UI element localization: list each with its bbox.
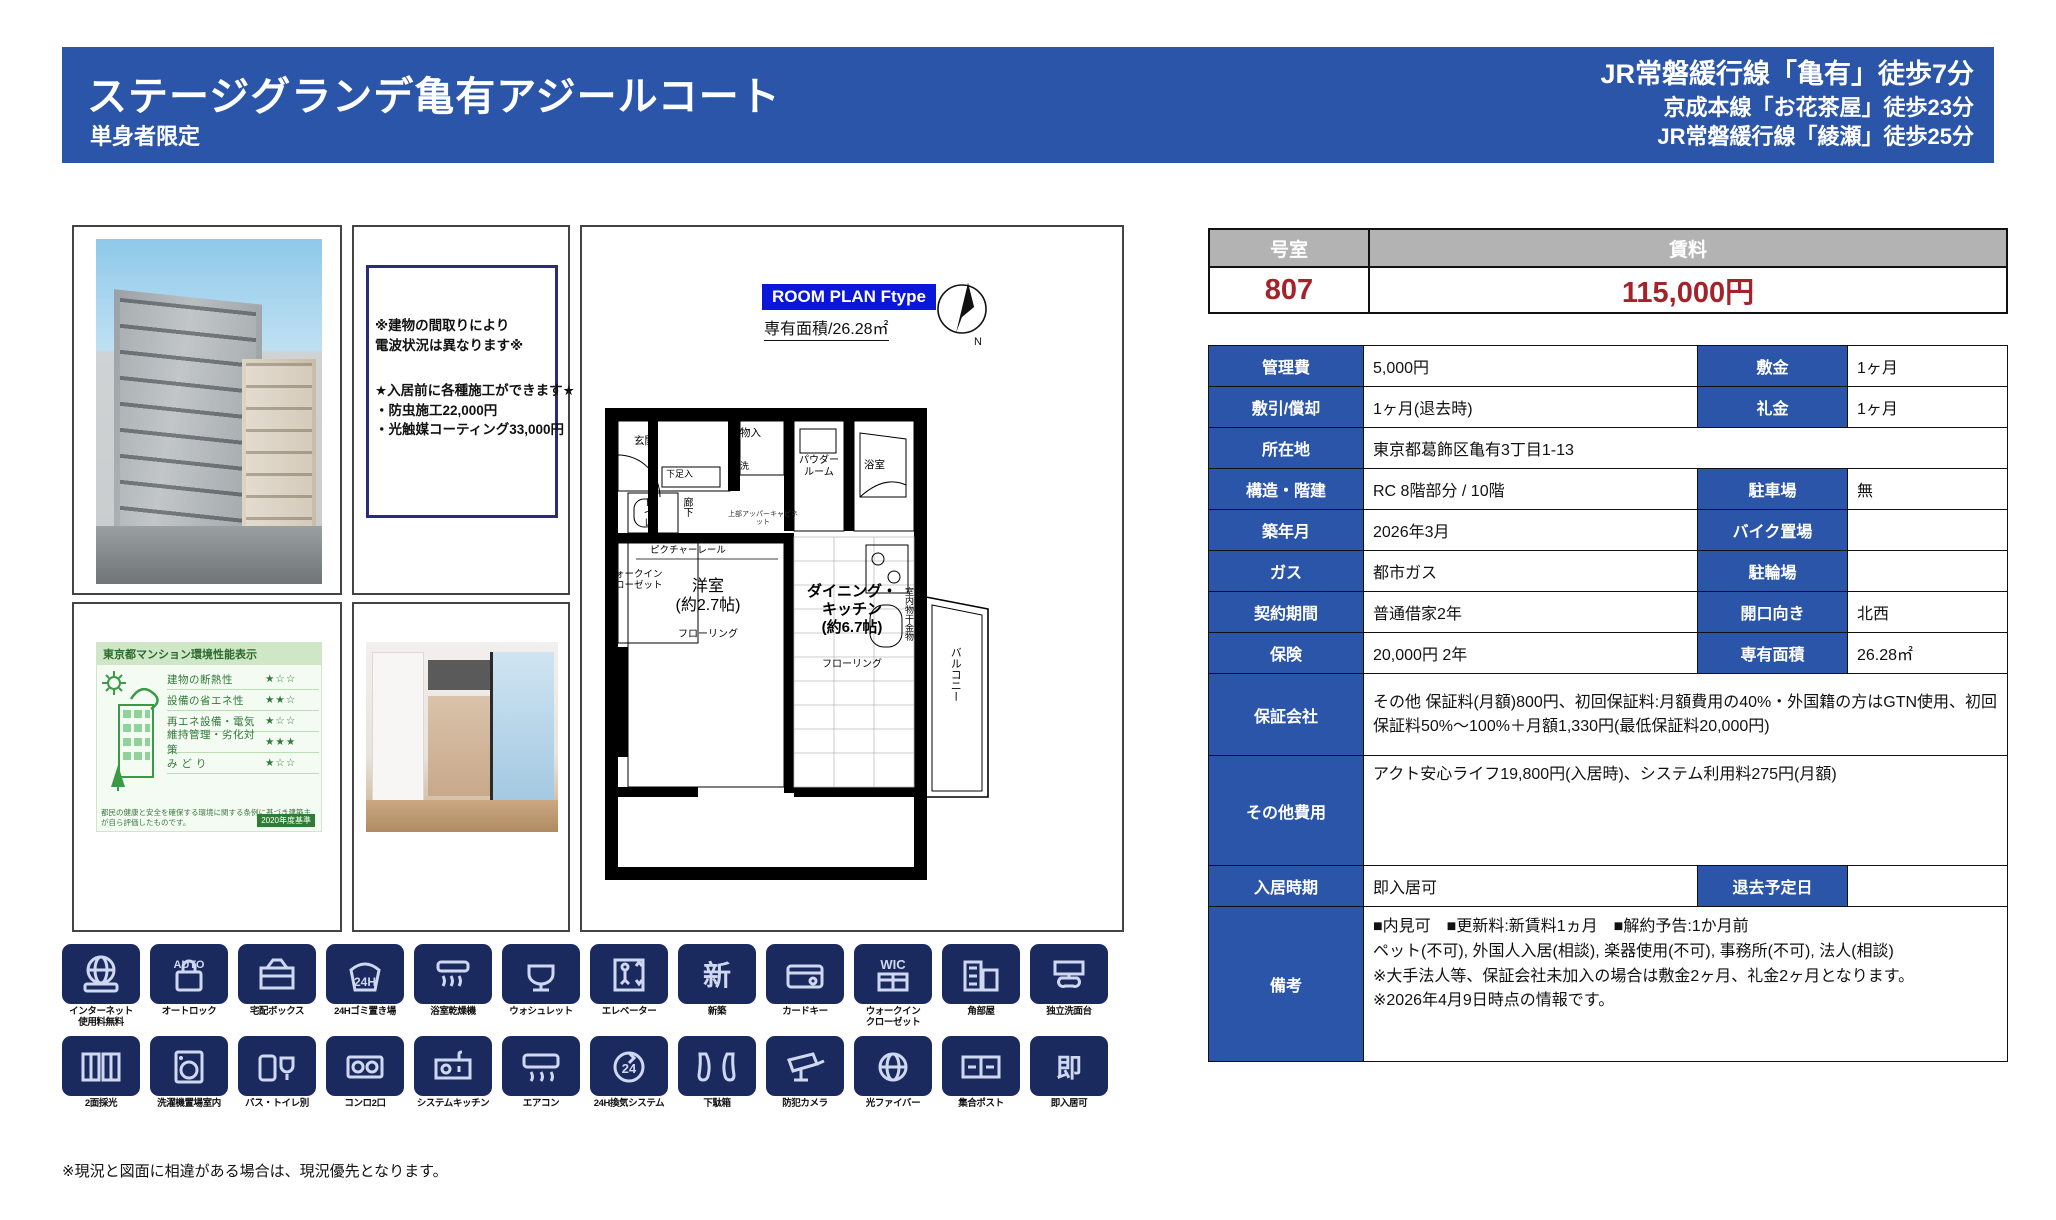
property-detail-table: 管理費 5,000円 敷金 1ヶ月 敷引/償却 1ヶ月(退去時) 礼金 1ヶ月 … bbox=[1208, 345, 2008, 1062]
row-key-structure: 構造・階建 bbox=[1209, 469, 1364, 510]
eco-tree-icon bbox=[101, 669, 167, 799]
row-value-bicycle-parking bbox=[1848, 551, 2008, 592]
facility-icon-label: ウォークイン クローゼット bbox=[854, 1007, 932, 1028]
eco-label-year-badge: 2020年度基準 bbox=[257, 814, 315, 827]
fp-label-powder-room: パウダー ルーム bbox=[794, 455, 844, 479]
eco-row-name: 設備の省エネ性 bbox=[167, 693, 265, 708]
facility-icon-cell: 24H24Hゴミ置き場 bbox=[326, 944, 404, 1028]
eco-row: 維持管理・劣化対策 ★★★ bbox=[167, 732, 319, 753]
page-subtitle: 単身者限定 bbox=[90, 119, 200, 151]
rent-summary-table: 号室 賃料 807 115,000円 bbox=[1208, 228, 2008, 314]
fp-label-flooring-1: フローリング bbox=[664, 629, 752, 641]
fp-label-upper-cabinet: 上部アッパーキャビネット bbox=[728, 511, 798, 528]
entry-door bbox=[372, 652, 424, 802]
facility-icon-label: 光ファイバー bbox=[854, 1099, 932, 1110]
facility-icon-label: 防犯カメラ bbox=[766, 1099, 844, 1110]
eco-row: み ど り ★☆☆ bbox=[167, 753, 319, 774]
floorplan-panel: ROOM PLAN Ftype 専有面積/26.28㎡ N bbox=[580, 225, 1124, 932]
page-header: ステージグランデ亀有アジールコート 単身者限定 JR常磐緩行線「亀有」徒歩7分 … bbox=[62, 47, 1994, 163]
table-row: 敷引/償却 1ヶ月(退去時) 礼金 1ヶ月 bbox=[1209, 387, 2008, 428]
fp-label-dining-kitchen: ダイニング・ キッチン (約6.7帖) bbox=[800, 583, 904, 637]
24h-ventilation-icon: 24 bbox=[590, 1036, 668, 1096]
fp-label-monoire: 物入 bbox=[740, 427, 761, 440]
internet-free-icon bbox=[62, 944, 140, 1004]
corner-room-icon bbox=[942, 944, 1020, 1004]
facility-icon-label: 集合ポスト bbox=[942, 1099, 1020, 1110]
eco-label-panel: 東京都マンション環境性能表示 bbox=[72, 602, 342, 932]
table-row: 保証会社 その他 保証料(月額)800円、初回保証料:月額費用の40%・外国籍の… bbox=[1209, 674, 2008, 756]
facility-icon-cell: 光ファイバー bbox=[854, 1036, 932, 1110]
page-title: ステージグランデ亀有アジールコート bbox=[87, 64, 781, 122]
notice-inner-box: ※建物の間取りにより 電波状況は異なります※ ★入居前に各種施工ができます★ ・… bbox=[366, 265, 558, 518]
table-row: 備考 ■内見可 ■更新料:新賃料1ヵ月 ■解約予告:1か月前 ペット(不可), … bbox=[1209, 907, 2008, 1062]
facility-icon-label: 2面採光 bbox=[62, 1099, 140, 1110]
eco-row-stars: ★☆☆ bbox=[265, 673, 319, 685]
row-key-bike-parking: バイク置場 bbox=[1698, 510, 1848, 551]
table-row: ガス 都市ガス 駐輪場 bbox=[1209, 551, 2008, 592]
eco-row-stars: ★☆☆ bbox=[265, 757, 319, 769]
bath-dryer-icon bbox=[414, 944, 492, 1004]
range-hood bbox=[428, 660, 494, 690]
row-value-floor-area: 26.28㎡ bbox=[1848, 633, 2008, 674]
facility-icon-label: インターネット 使用料無料 bbox=[62, 1007, 140, 1028]
row-key-remarks: 備考 bbox=[1209, 907, 1364, 1062]
svg-text:24: 24 bbox=[622, 1061, 637, 1076]
row-key-facing: 開口向き bbox=[1698, 592, 1848, 633]
rent-header-rent: 賃料 bbox=[1369, 229, 2007, 267]
facility-icon-label: 24H換気システム bbox=[590, 1099, 668, 1110]
facility-icon-grid: インターネット 使用料無料AUTOオートロック宅配ボックス24H24Hゴミ置き場… bbox=[62, 944, 1122, 1174]
shoe-box-icon bbox=[678, 1036, 756, 1096]
facility-icon-label: 宅配ボックス bbox=[238, 1007, 316, 1018]
row-value-movein-date: 即入居可 bbox=[1364, 866, 1698, 907]
row-key-address: 所在地 bbox=[1209, 428, 1364, 469]
row-value-gas: 都市ガス bbox=[1364, 551, 1698, 592]
table-row: 保険 20,000円 2年 専有面積 26.28㎡ bbox=[1209, 633, 2008, 674]
washlet-icon bbox=[502, 944, 580, 1004]
interior-photo-panel bbox=[352, 602, 570, 932]
row-value-address: 東京都葛飾区亀有3丁目1-13 bbox=[1364, 428, 2008, 469]
row-key-deposit: 敷金 bbox=[1698, 346, 1848, 387]
facility-icon-cell: 浴室乾燥機 bbox=[414, 944, 492, 1028]
station-access-line-1: JR常磐緩行線「亀有」徒歩7分 bbox=[1600, 57, 1974, 93]
facility-icon-row-2: 2面採光洗濯機置場室内バス・トイレ別コンロ2口システムキッチンエアコン2424H… bbox=[62, 1036, 1122, 1110]
card-key-icon bbox=[766, 944, 844, 1004]
station-access: JR常磐緩行線「亀有」徒歩7分 京成本線「お花茶屋」徒歩23分 JR常磐緩行線「… bbox=[1600, 57, 1974, 151]
notice-line-4: ・防虫施工22,000円 bbox=[369, 401, 555, 421]
row-key-guarantor: 保証会社 bbox=[1209, 674, 1364, 756]
table-row: その他費用 アクト安心ライフ19,800円(入居時)、システム利用料275円(月… bbox=[1209, 756, 2008, 866]
svg-text:N: N bbox=[974, 336, 982, 347]
row-value-deposit: 1ヶ月 bbox=[1848, 346, 2008, 387]
station-access-line-2: 京成本線「お花茶屋」徒歩23分 bbox=[1600, 93, 1974, 122]
row-value-built-date: 2026年3月 bbox=[1364, 510, 1698, 551]
roomplan-badge: ROOM PLAN Ftype bbox=[762, 284, 936, 310]
floorplan-area-text: 専有面積/26.28㎡ bbox=[764, 315, 889, 341]
table-row: 築年月 2026年3月 バイク置場 bbox=[1209, 510, 2008, 551]
facility-icon-cell: 宅配ボックス bbox=[238, 944, 316, 1028]
independent-washstand-icon bbox=[1030, 944, 1108, 1004]
row-key-parking: 駐車場 bbox=[1698, 469, 1848, 510]
facility-icon-cell: カードキー bbox=[766, 944, 844, 1028]
row-key-floor-area: 専有面積 bbox=[1698, 633, 1848, 674]
row-value-structure: RC 8階部分 / 10階 bbox=[1364, 469, 1698, 510]
svg-text:新: 新 bbox=[703, 960, 731, 991]
row-value-remarks: ■内見可 ■更新料:新賃料1ヵ月 ■解約予告:1か月前 ペット(不可), 外国人… bbox=[1364, 907, 2008, 1062]
air-conditioner-icon bbox=[502, 1036, 580, 1096]
table-row: 入居時期 即入居可 退去予定日 bbox=[1209, 866, 2008, 907]
remarks-line-3: ※大手法人等、保証会社未加入の場合は敷金2ヶ月、礼金2ヶ月となります。 bbox=[1373, 965, 1998, 990]
facility-icon-cell: エアコン bbox=[502, 1036, 580, 1110]
eco-label-title: 東京都マンション環境性能表示 bbox=[97, 643, 321, 665]
notice-line-1: ※建物の間取りにより bbox=[369, 268, 555, 336]
row-key-management-fee: 管理費 bbox=[1209, 346, 1364, 387]
row-key-bicycle-parking: 駐輪場 bbox=[1698, 551, 1848, 592]
facility-icon-label: 浴室乾燥機 bbox=[414, 1007, 492, 1018]
optical-fiber-icon bbox=[854, 1036, 932, 1096]
facility-icon-label: 24Hゴミ置き場 bbox=[326, 1007, 404, 1018]
eco-row-stars: ★☆☆ bbox=[265, 715, 319, 727]
svg-text:WIC: WIC bbox=[880, 957, 906, 972]
row-key-contract-term: 契約期間 bbox=[1209, 592, 1364, 633]
facility-icon-label: 独立洗面台 bbox=[1030, 1007, 1108, 1018]
facility-icon-label: 即入居可 bbox=[1030, 1099, 1108, 1110]
table-row: 契約期間 普通借家2年 開口向き 北西 bbox=[1209, 592, 2008, 633]
facility-icon-cell: システムキッチン bbox=[414, 1036, 492, 1110]
remarks-line-2: ペット(不可), 外国人入居(相談), 楽器使用(不可), 事務所(不可), 法… bbox=[1373, 940, 1998, 965]
fp-label-toilet: トイレ bbox=[640, 497, 652, 527]
eco-row: 設備の省エネ性 ★★☆ bbox=[167, 690, 319, 711]
row-value-facing: 北西 bbox=[1848, 592, 2008, 633]
facility-icon-label: オートロック bbox=[150, 1007, 228, 1018]
facility-icon-label: 下駄箱 bbox=[678, 1099, 756, 1110]
facility-icon-label: ウォシュレット bbox=[502, 1007, 580, 1018]
remarks-line-1: ■内見可 ■更新料:新賃料1ヵ月 ■解約予告:1か月前 bbox=[1373, 915, 1998, 940]
fp-label-wic: ウォークイン クローゼット bbox=[596, 569, 672, 592]
facility-icon-cell: 下駄箱 bbox=[678, 1036, 756, 1110]
floor-surface bbox=[366, 800, 558, 832]
notice-line-5: ・光触媒コーティング33,000円 bbox=[369, 420, 555, 440]
washer-indoor-icon bbox=[150, 1036, 228, 1096]
eco-row: 建物の断熱性 ★☆☆ bbox=[167, 669, 319, 690]
disclaimer-text: ※現況と図面に相違がある場合は、現況優先となります。 bbox=[62, 1160, 448, 1181]
bath-toilet-separate-icon bbox=[238, 1036, 316, 1096]
security-camera-icon bbox=[766, 1036, 844, 1096]
street bbox=[96, 526, 322, 584]
two-side-lighting-icon bbox=[62, 1036, 140, 1096]
fp-label-shoebox: 下足入 bbox=[666, 469, 693, 480]
table-row: 所在地 東京都葛飾区亀有3丁目1-13 bbox=[1209, 428, 2008, 469]
auto-lock-icon: AUTO bbox=[150, 944, 228, 1004]
facility-icon-label: システムキッチン bbox=[414, 1099, 492, 1110]
row-value-bike-parking bbox=[1848, 510, 2008, 551]
fp-label-sen: 洗 bbox=[740, 461, 749, 472]
exterior-photo-panel bbox=[72, 225, 342, 595]
row-value-insurance: 20,000円 2年 bbox=[1364, 633, 1698, 674]
facility-icon-cell: WICウォークイン クローゼット bbox=[854, 944, 932, 1028]
tokyo-mansion-eco-label: 東京都マンション環境性能表示 bbox=[96, 642, 322, 832]
fp-label-western-room: 洋室 (約2.7帖) bbox=[664, 577, 752, 615]
facility-icon-cell: 洗濯機置場室内 bbox=[150, 1036, 228, 1110]
facility-icon-cell: 即即入居可 bbox=[1030, 1036, 1108, 1110]
facility-icon-label: 新築 bbox=[678, 1007, 756, 1018]
station-access-line-3: JR常磐緩行線「綾瀬」徒歩25分 bbox=[1600, 122, 1974, 151]
row-value-parking: 無 bbox=[1848, 469, 2008, 510]
row-value-moveout-date bbox=[1848, 866, 2008, 907]
row-key-gas: ガス bbox=[1209, 551, 1364, 592]
row-value-other-fees: アクト安心ライフ19,800円(入居時)、システム利用料275円(月額) bbox=[1364, 756, 2008, 866]
rent-header-room-no: 号室 bbox=[1209, 229, 1369, 267]
two-burner-stove-icon bbox=[326, 1036, 404, 1096]
walk-in-closet-icon: WIC bbox=[854, 944, 932, 1004]
elevator-icon bbox=[590, 944, 668, 1004]
facility-icon-cell: 集合ポスト bbox=[942, 1036, 1020, 1110]
row-value-key-money: 1ヶ月 bbox=[1848, 387, 2008, 428]
row-key-moveout-date: 退去予定日 bbox=[1698, 866, 1848, 907]
floorplan-drawing: 玄関 物入 下足入 洗 パウダー ルーム 浴室 トイレ 廊下 ウォークイン クロ… bbox=[588, 347, 1118, 917]
facility-icon-label: 洗濯機置場室内 bbox=[150, 1099, 228, 1110]
notice-line-3: ★入居前に各種施工ができます★ bbox=[369, 381, 555, 401]
facility-icon-cell: インターネット 使用料無料 bbox=[62, 944, 140, 1028]
notice-line-2: 電波状況は異なります※ bbox=[369, 336, 555, 356]
facility-icon-cell: ウォシュレット bbox=[502, 944, 580, 1028]
row-value-deduction: 1ヶ月(退去時) bbox=[1364, 387, 1698, 428]
facility-icon-cell: 2424H換気システム bbox=[590, 1036, 668, 1110]
row-key-built-date: 築年月 bbox=[1209, 510, 1364, 551]
facility-icon-label: エアコン bbox=[502, 1099, 580, 1110]
facility-icon-label: カードキー bbox=[766, 1007, 844, 1018]
remarks-line-4: ※2026年4月9日時点の情報です。 bbox=[1373, 989, 1998, 1014]
interior-photo bbox=[366, 642, 558, 832]
fp-label-genkan: 玄関 bbox=[634, 435, 655, 448]
kitchen-unit bbox=[428, 696, 494, 796]
row-key-other-fees: その他費用 bbox=[1209, 756, 1364, 866]
room-number-value: 807 bbox=[1209, 267, 1369, 313]
facility-icon-cell: バス・トイレ別 bbox=[238, 1036, 316, 1110]
facility-icon-cell: 新新築 bbox=[678, 944, 756, 1028]
facility-icon-cell: 2面採光 bbox=[62, 1036, 140, 1110]
svg-text:24H: 24H bbox=[354, 975, 376, 989]
facility-icon-cell: コンロ2口 bbox=[326, 1036, 404, 1110]
24h-garbage-icon: 24H bbox=[326, 944, 404, 1004]
facility-icon-cell: エレベーター bbox=[590, 944, 668, 1028]
row-key-movein-date: 入居時期 bbox=[1209, 866, 1364, 907]
system-kitchen-icon bbox=[414, 1036, 492, 1096]
facility-icon-row-1: インターネット 使用料無料AUTOオートロック宅配ボックス24H24Hゴミ置き場… bbox=[62, 944, 1122, 1028]
row-key-deduction: 敷引/償却 bbox=[1209, 387, 1364, 428]
table-row: 構造・階建 RC 8階部分 / 10階 駐車場 無 bbox=[1209, 469, 2008, 510]
facility-icon-cell: AUTOオートロック bbox=[150, 944, 228, 1028]
immediate-movein-icon: 即 bbox=[1030, 1036, 1108, 1096]
svg-text:即: 即 bbox=[1056, 1053, 1082, 1083]
eco-row-name: み ど り bbox=[167, 756, 265, 771]
table-row: 管理費 5,000円 敷金 1ヶ月 bbox=[1209, 346, 2008, 387]
facility-icon-label: 角部屋 bbox=[942, 1007, 1020, 1018]
delivery-box-icon bbox=[238, 944, 316, 1004]
facility-icon-cell: 独立洗面台 bbox=[1030, 944, 1108, 1028]
mail-post-icon bbox=[942, 1036, 1020, 1096]
fp-label-picture-rail: ピクチャーレール bbox=[650, 545, 726, 556]
compass-icon: N bbox=[934, 277, 990, 347]
facility-icon-cell: 角部屋 bbox=[942, 944, 1020, 1028]
eco-row-name: 維持管理・劣化対策 bbox=[167, 727, 265, 757]
facility-icon-label: エレベーター bbox=[590, 1007, 668, 1018]
notice-panel: ※建物の間取りにより 電波状況は異なります※ ★入居前に各種施工ができます★ ・… bbox=[352, 225, 570, 595]
new-building-icon: 新 bbox=[678, 944, 756, 1004]
row-value-guarantor: その他 保証料(月額)800円、初回保証料:月額費用の40%・外国籍の方はGTN… bbox=[1364, 674, 2008, 756]
facility-icon-label: コンロ2口 bbox=[326, 1099, 404, 1110]
rent-value: 115,000円 bbox=[1369, 267, 2007, 313]
row-value-management-fee: 5,000円 bbox=[1364, 346, 1698, 387]
eco-row-stars: ★★★ bbox=[265, 736, 319, 748]
balcony-window bbox=[490, 652, 554, 817]
eco-rating-rows: 建物の断熱性 ★☆☆ 設備の省エネ性 ★★☆ 再エネ設備・電気 ★☆☆ 維持管理… bbox=[167, 669, 319, 774]
row-key-key-money: 礼金 bbox=[1698, 387, 1848, 428]
eco-row-stars: ★★☆ bbox=[265, 694, 319, 706]
fp-label-indoor-laundry-hanger: 室内物干金物 bbox=[904, 587, 913, 641]
exterior-photo bbox=[96, 239, 322, 584]
facility-icon-label: バス・トイレ別 bbox=[238, 1099, 316, 1110]
fp-label-corridor: 廊下 bbox=[680, 497, 692, 517]
row-key-insurance: 保険 bbox=[1209, 633, 1364, 674]
row-value-contract-term: 普通借家2年 bbox=[1364, 592, 1698, 633]
facility-icon-cell: 防犯カメラ bbox=[766, 1036, 844, 1110]
eco-row-name: 建物の断熱性 bbox=[167, 672, 265, 687]
fp-label-flooring-2: フローリング bbox=[800, 659, 904, 671]
fp-label-balcony: バルコニー bbox=[948, 647, 961, 702]
fp-label-bath: 浴室 bbox=[864, 459, 885, 472]
